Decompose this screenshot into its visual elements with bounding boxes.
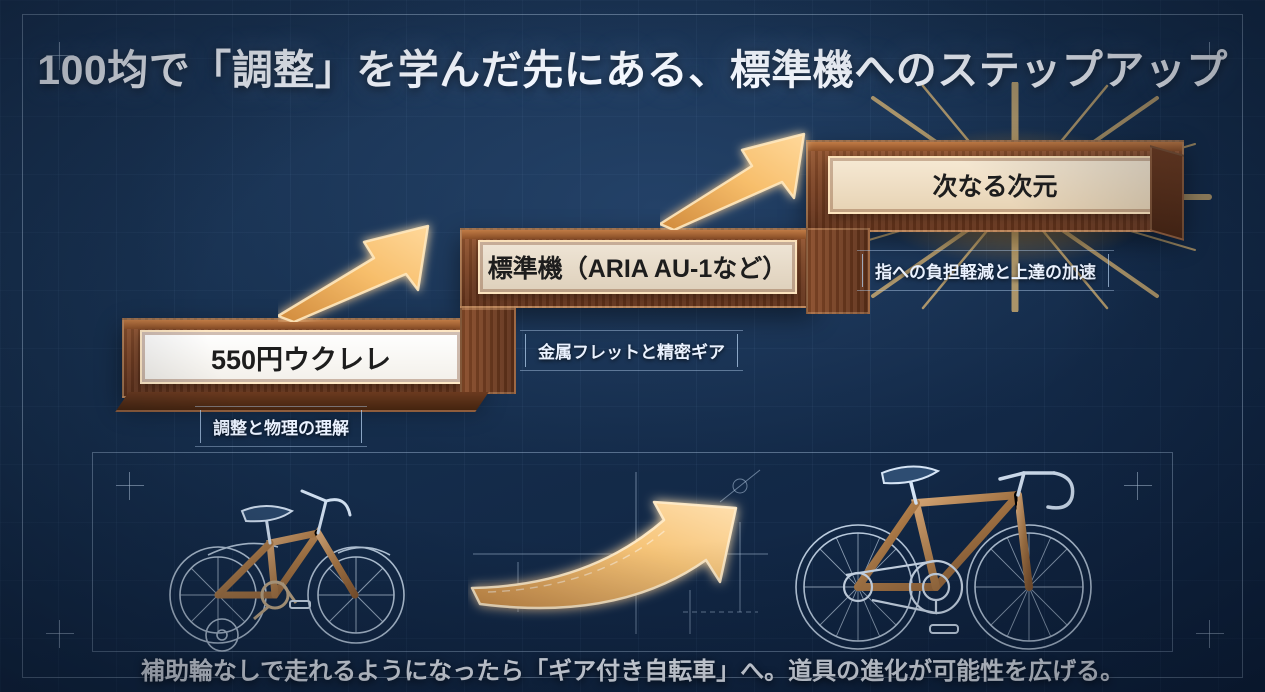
step-2-label: 標準機（ARIA AU-1など）: [478, 240, 797, 294]
infographic-slide: 100均で「調整」を学んだ先にある、標準機へのステップアップ: [0, 0, 1265, 692]
illustration-area: 補助輪なしで走れるようになったら「ギア付き自転車」へ。道具の進化が可能性を広げる…: [0, 440, 1265, 692]
step-3-caption: 指への負担軽減と上達の加速: [862, 254, 1109, 287]
bottom-caption: 補助輪なしで走れるようになったら「ギア付き自転車」へ。道具の進化が可能性を広げる…: [0, 651, 1265, 686]
step-3-riser: [806, 228, 870, 314]
step-2: 標準機（ARIA AU-1など）: [460, 228, 815, 308]
arrow-step-1-to-2: [278, 212, 458, 322]
step-3-side-face: [1150, 145, 1184, 241]
staircase-diagram: 次なる次元 標準機（ARIA AU-1など） 550円ウクレレ: [0, 0, 1265, 460]
step-1-caption: 調整と物理の理解: [200, 410, 362, 443]
arrow-growth-icon: [468, 462, 773, 642]
step-1-base-shadow: [115, 392, 488, 412]
step-3-label: 次なる次元: [828, 156, 1162, 214]
step-3: 次なる次元: [806, 140, 1184, 232]
kids-bike-icon: [150, 455, 425, 655]
step-2-caption: 金属フレットと精密ギア: [525, 334, 738, 367]
step-1: 550円ウクレレ: [122, 318, 480, 398]
step-1-label: 550円ウクレレ: [140, 330, 462, 384]
step-2-riser: [460, 308, 516, 394]
arrow-step-2-to-3: [660, 122, 830, 230]
road-bike-icon: [786, 445, 1096, 660]
